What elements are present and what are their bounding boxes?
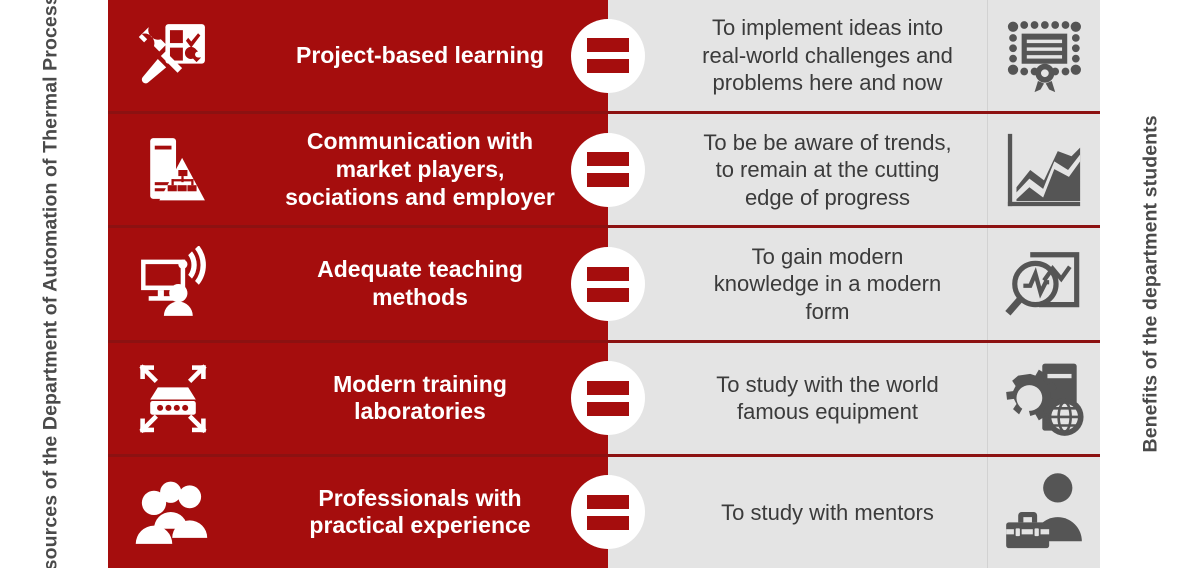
resource-label: Communication with market players, socia…	[238, 128, 608, 211]
benefit-cell[interactable]: To gain modern knowledge in a modern for…	[608, 228, 1100, 339]
right-axis-label: Benefits of the department students	[1104, 0, 1200, 568]
equals-bar-bottom	[587, 59, 629, 73]
person-toolbox-icon	[987, 457, 1100, 568]
expand-equipment-icon	[108, 360, 238, 436]
magnifier-chart-icon	[987, 228, 1100, 339]
benefit-cell[interactable]: To study with mentors	[608, 457, 1100, 568]
equals-bar-top	[587, 495, 629, 509]
equals-connector	[571, 133, 645, 207]
gear-server-globe-icon	[987, 343, 1100, 454]
resource-cell[interactable]: Professionals with practical experience	[108, 457, 608, 568]
benefit-label: To gain modern knowledge in a modern for…	[608, 243, 987, 326]
certificate-icon	[987, 0, 1100, 111]
equals-bar-bottom	[587, 288, 629, 302]
table-row: Modern training laboratories To study wi…	[108, 343, 1100, 457]
left-axis-label-text: Resources of the Department of Automatio…	[40, 0, 64, 568]
equals-connector	[571, 247, 645, 321]
table-row: Communication with market players, socia…	[108, 114, 1100, 228]
equals-connector	[571, 475, 645, 549]
benefit-label: To study with mentors	[608, 499, 987, 527]
resource-cell[interactable]: Adequate teaching methods	[108, 228, 608, 339]
equals-bar-bottom	[587, 402, 629, 416]
left-axis-label: Resources of the Department of Automatio…	[0, 0, 104, 568]
benefit-label: To implement ideas into real-world chall…	[608, 14, 987, 97]
equals-bar-top	[587, 267, 629, 281]
equals-connector	[571, 361, 645, 435]
resource-cell[interactable]: Communication with market players, socia…	[108, 114, 608, 225]
resource-label: Adequate teaching methods	[238, 256, 608, 311]
resource-label: Project-based learning	[238, 42, 608, 70]
benefit-cell[interactable]: To be be aware of trends, to remain at t…	[608, 114, 1100, 225]
equals-bar-top	[587, 38, 629, 52]
benefit-cell[interactable]: To implement ideas into real-world chall…	[608, 0, 1100, 111]
table-row: Project-based learning To implement idea…	[108, 0, 1100, 114]
people-group-icon	[108, 474, 238, 550]
equals-bar-top	[587, 381, 629, 395]
table-row: Professionals with practical experience …	[108, 457, 1100, 568]
table-row: Adequate teaching methods To gain modern…	[108, 228, 1100, 342]
equals-bar-bottom	[587, 516, 629, 530]
benefit-label: To study with the world famous equipment	[608, 371, 987, 426]
rows-board: Project-based learning To implement idea…	[108, 0, 1100, 568]
resource-label: Professionals with practical experience	[238, 485, 608, 540]
equals-connector	[571, 19, 645, 93]
trend-chart-icon	[987, 114, 1100, 225]
right-axis-label-text: Benefits of the department students	[1140, 115, 1164, 452]
resource-label: Modern training laboratories	[238, 371, 608, 426]
server-network-icon	[108, 132, 238, 208]
resource-cell[interactable]: Project-based learning	[108, 0, 608, 111]
monitor-broadcast-icon	[108, 246, 238, 322]
diagram-canvas: Resources of the Department of Automatio…	[0, 0, 1200, 568]
resource-cell[interactable]: Modern training laboratories	[108, 343, 608, 454]
tools-checklist-icon	[108, 18, 238, 94]
benefit-label: To be be aware of trends, to remain at t…	[608, 129, 987, 212]
equals-bar-bottom	[587, 173, 629, 187]
benefit-cell[interactable]: To study with the world famous equipment	[608, 343, 1100, 454]
equals-bar-top	[587, 152, 629, 166]
